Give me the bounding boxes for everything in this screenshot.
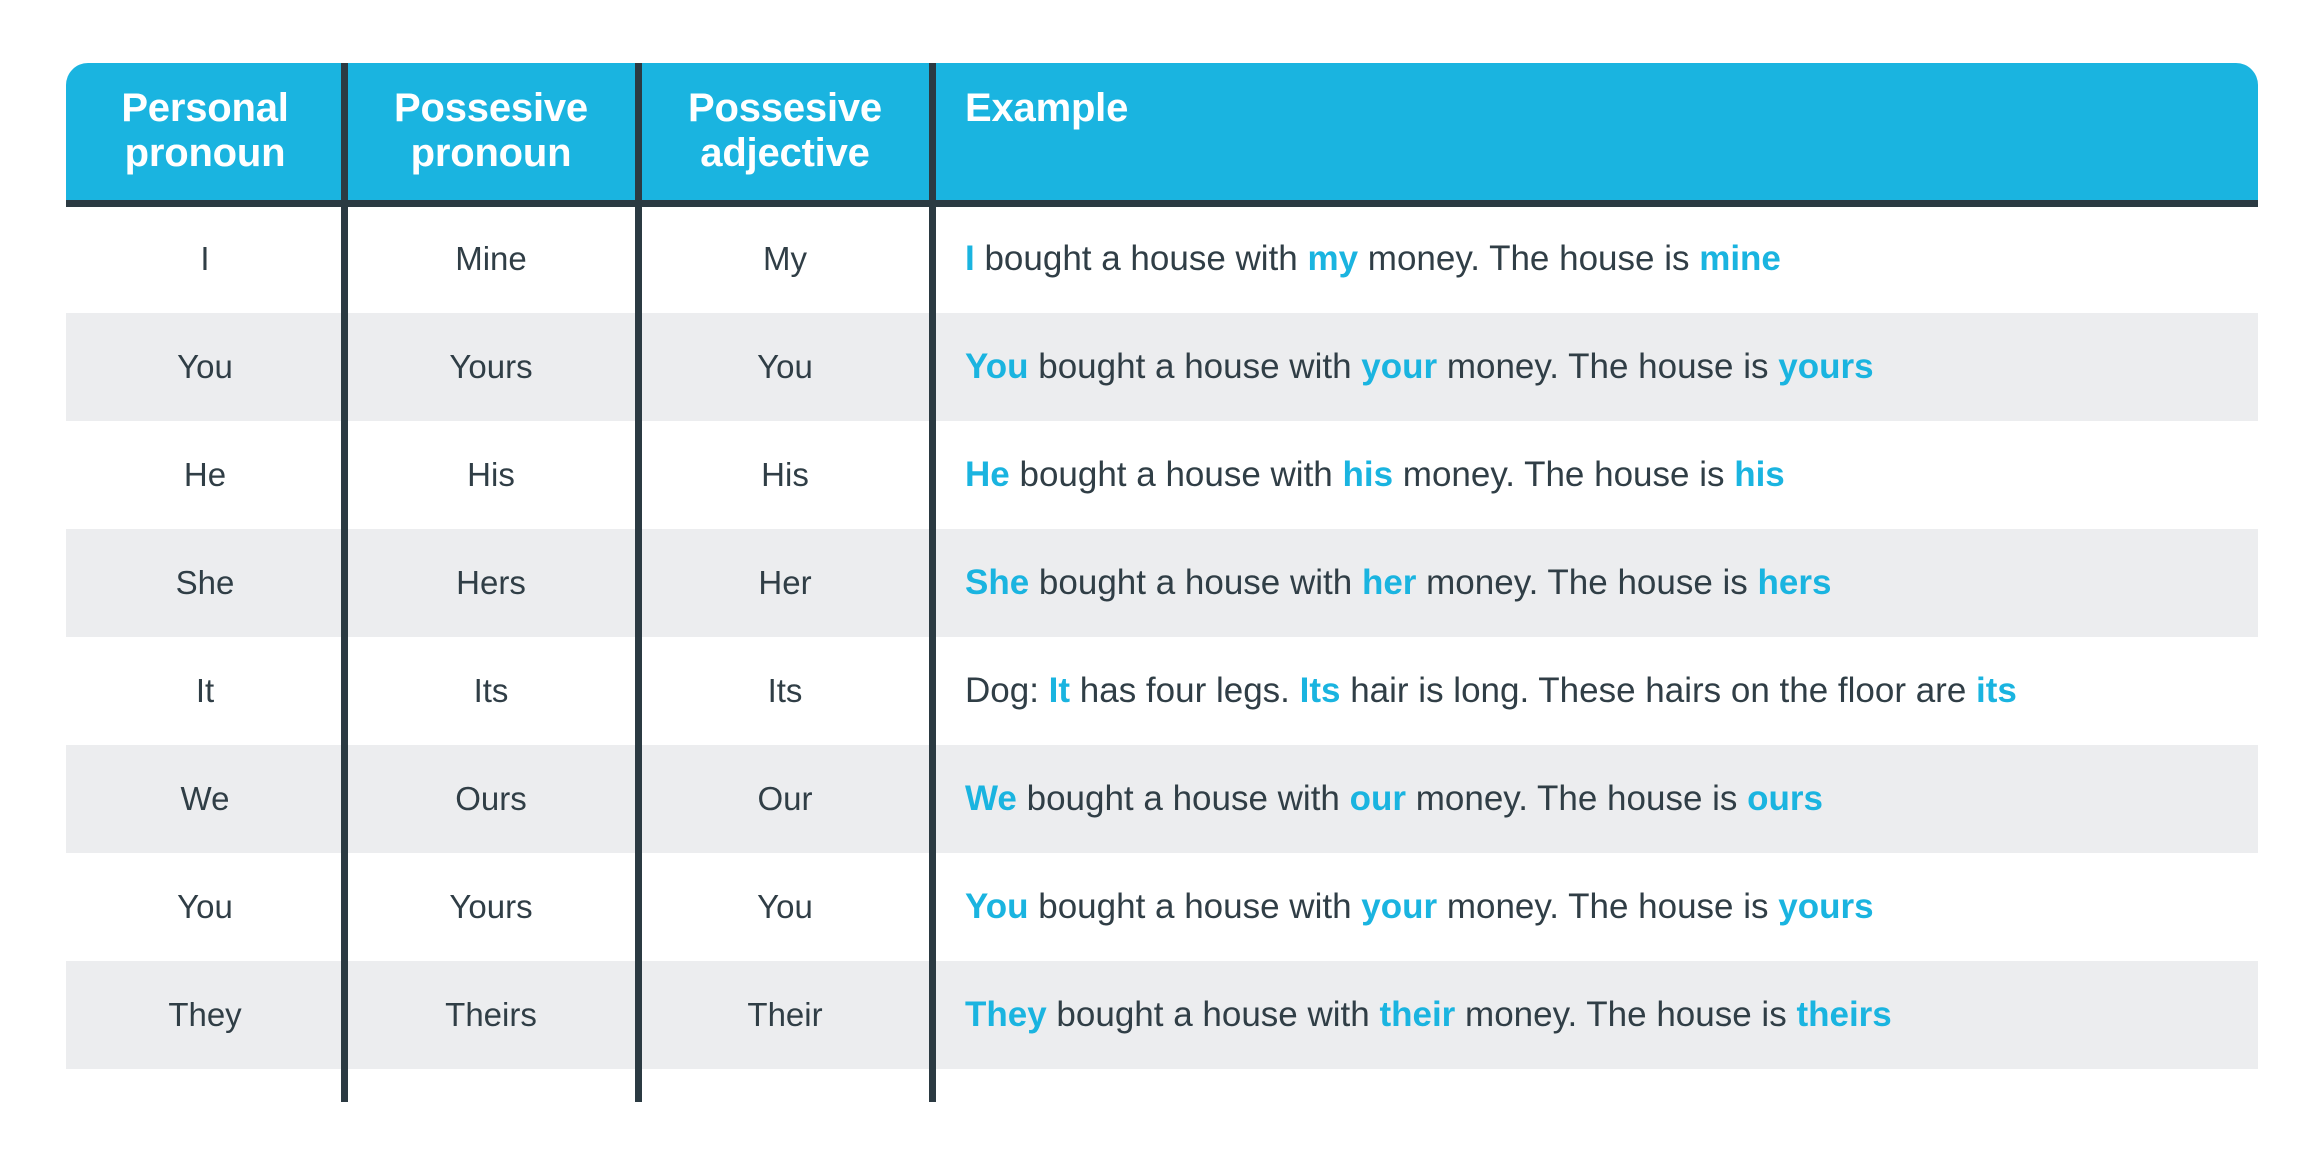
cell-possesive-pronoun: Hers [344, 529, 638, 637]
column-divider-1 [341, 200, 348, 1102]
column-header-line1: Possesive [688, 86, 882, 130]
example-highlight: I [965, 239, 975, 278]
column-header-line1: Personal [121, 86, 288, 130]
cell-example: They bought a house with their money. Th… [932, 961, 2258, 1069]
example-highlight: your [1361, 347, 1437, 386]
cell-possesive-pronoun: Mine [344, 205, 638, 313]
cell-possesive-adjective: Their [638, 961, 932, 1069]
column-header-line2: pronoun [125, 131, 286, 175]
example-highlight: your [1361, 887, 1437, 926]
example-highlight: yours [1778, 347, 1873, 386]
column-header-line2: pronoun [411, 131, 572, 175]
example-highlight: its [1976, 671, 2017, 710]
example-highlight: their [1379, 995, 1455, 1034]
cell-example: We bought a house with our money. The ho… [932, 745, 2258, 853]
table-header: Personal pronoun Possesive pronoun Posse… [66, 63, 2258, 205]
column-header-line2: adjective [700, 131, 869, 175]
cell-personal-pronoun: You [66, 313, 344, 421]
example-text: money. The house is [1455, 995, 1796, 1034]
example-text: bought a house with [1047, 995, 1380, 1034]
cell-possesive-adjective: Her [638, 529, 932, 637]
example-text: bought a house with [1029, 563, 1362, 602]
cell-possesive-pronoun: Yours [344, 313, 638, 421]
table-row: TheyTheirsTheirThey bought a house with … [66, 961, 2258, 1069]
example-highlight: his [1734, 455, 1785, 494]
cell-personal-pronoun: You [66, 853, 344, 961]
cell-example: Dog: It has four legs. Its hair is long.… [932, 637, 2258, 745]
example-highlight: her [1362, 563, 1416, 602]
example-highlight: mine [1699, 239, 1781, 278]
example-highlight: hers [1758, 563, 1832, 602]
cell-example: She bought a house with her money. The h… [932, 529, 2258, 637]
cell-possesive-pronoun: Yours [344, 853, 638, 961]
header-divider-3 [929, 63, 936, 200]
example-highlight: Its [1300, 671, 1341, 710]
table-row: ItItsItsDog: It has four legs. Its hair … [66, 637, 2258, 745]
column-header-example: Example [932, 63, 2258, 205]
cell-possesive-adjective: You [638, 853, 932, 961]
table-row: YouYoursYouYou bought a house with your … [66, 853, 2258, 961]
example-highlight: She [965, 563, 1029, 602]
pronouns-table: Personal pronoun Possesive pronoun Posse… [66, 63, 2258, 1069]
example-text: money. The house is [1393, 455, 1734, 494]
example-highlight: They [965, 995, 1047, 1034]
table-row: SheHersHerShe bought a house with her mo… [66, 529, 2258, 637]
example-highlight: It [1049, 671, 1070, 710]
column-header-possesive-pronoun: Possesive pronoun [344, 63, 638, 205]
example-text: bought a house with [975, 239, 1308, 278]
example-text: money. The house is [1406, 779, 1747, 818]
example-highlight: my [1307, 239, 1358, 278]
example-highlight: theirs [1796, 995, 1891, 1034]
column-divider-2 [635, 200, 642, 1102]
example-text: bought a house with [1017, 779, 1350, 818]
table-body: IMineMyI bought a house with my money. T… [66, 205, 2258, 1069]
example-text: hair is long. These hairs on the floor a… [1340, 671, 1976, 710]
cell-possesive-adjective: Its [638, 637, 932, 745]
cell-personal-pronoun: We [66, 745, 344, 853]
example-highlight: You [965, 347, 1029, 386]
pronoun-table-page: Personal pronoun Possesive pronoun Posse… [0, 0, 2301, 1159]
example-text: money. The house is [1437, 887, 1778, 926]
cell-possesive-pronoun: Its [344, 637, 638, 745]
example-text: bought a house with [1010, 455, 1343, 494]
cell-possesive-pronoun: Ours [344, 745, 638, 853]
cell-example: You bought a house with your money. The … [932, 853, 2258, 961]
header-divider-1 [341, 63, 348, 200]
header-divider-2 [635, 63, 642, 200]
cell-personal-pronoun: They [66, 961, 344, 1069]
column-header-line1: Possesive [394, 86, 588, 130]
cell-possesive-adjective: You [638, 313, 932, 421]
example-text: money. The house is [1437, 347, 1778, 386]
table-row: IMineMyI bought a house with my money. T… [66, 205, 2258, 313]
table-row: WeOursOurWe bought a house with our mone… [66, 745, 2258, 853]
header-bottom-rule [66, 200, 2258, 207]
cell-example: You bought a house with your money. The … [932, 313, 2258, 421]
cell-possesive-adjective: My [638, 205, 932, 313]
example-highlight: his [1343, 455, 1394, 494]
example-text: Dog: [965, 671, 1049, 710]
cell-personal-pronoun: It [66, 637, 344, 745]
cell-personal-pronoun: I [66, 205, 344, 313]
column-header-line1: Example [965, 86, 1128, 130]
example-text: has four legs. [1070, 671, 1300, 710]
cell-example: I bought a house with my money. The hous… [932, 205, 2258, 313]
table-row: YouYoursYouYou bought a house with your … [66, 313, 2258, 421]
cell-personal-pronoun: He [66, 421, 344, 529]
cell-possesive-pronoun: Theirs [344, 961, 638, 1069]
cell-possesive-pronoun: His [344, 421, 638, 529]
table-row: HeHisHisHe bought a house with his money… [66, 421, 2258, 529]
example-text: bought a house with [1029, 887, 1362, 926]
column-header-possesive-adjective: Possesive adjective [638, 63, 932, 205]
column-header-personal-pronoun: Personal pronoun [66, 63, 344, 205]
example-highlight: We [965, 779, 1017, 818]
example-highlight: yours [1778, 887, 1873, 926]
example-text: bought a house with [1029, 347, 1362, 386]
cell-example: He bought a house with his money. The ho… [932, 421, 2258, 529]
table-header-row: Personal pronoun Possesive pronoun Posse… [66, 63, 2258, 205]
example-text: money. The house is [1358, 239, 1699, 278]
cell-possesive-adjective: Our [638, 745, 932, 853]
column-divider-3 [929, 200, 936, 1102]
example-highlight: He [965, 455, 1010, 494]
cell-personal-pronoun: She [66, 529, 344, 637]
cell-possesive-adjective: His [638, 421, 932, 529]
example-text: money. The house is [1416, 563, 1757, 602]
example-highlight: You [965, 887, 1029, 926]
example-highlight: our [1350, 779, 1406, 818]
example-highlight: ours [1747, 779, 1823, 818]
